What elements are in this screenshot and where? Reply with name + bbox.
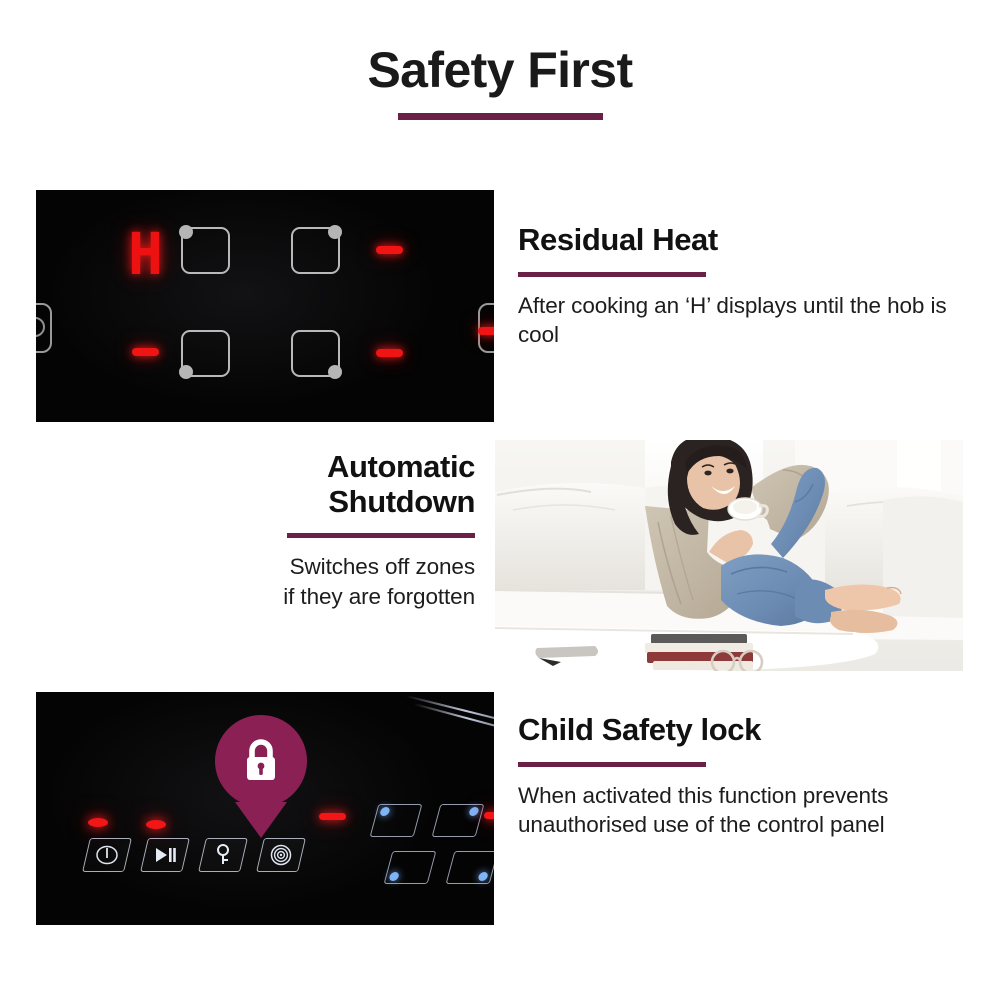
woman-relaxing-illustration <box>495 440 963 671</box>
automatic-shutdown-media <box>495 440 963 671</box>
hob-dash-bottom-left <box>132 348 159 356</box>
residual-heat-heading: Residual Heat <box>518 223 948 258</box>
hob-edge-dash-right <box>478 327 494 335</box>
hob-dash-bottom-right <box>376 349 403 357</box>
automatic-shutdown-body-line1: Switches off zones <box>160 552 475 582</box>
hob-edge-key-left <box>36 303 52 353</box>
zone-key-bottom-left[interactable] <box>384 851 437 884</box>
child-lock-badge <box>215 715 307 807</box>
hob-zone-indicator-3 <box>181 330 230 377</box>
automatic-shutdown-rule <box>287 533 475 538</box>
hob-zone-indicator-1 <box>181 227 230 274</box>
hob-dash-top-right <box>376 246 403 254</box>
zone-led-bar-far-right <box>484 812 494 819</box>
zone-key-top-left[interactable] <box>370 804 423 837</box>
zone-key-top-right[interactable] <box>432 804 485 837</box>
residual-heat-body: After cooking an ‘H’ displays until the … <box>518 291 948 350</box>
hob-edge-key-right <box>478 303 494 353</box>
zone-led-2 <box>146 820 166 829</box>
child-safety-lock-copy: Child Safety lock When activated this fu… <box>518 713 948 840</box>
automatic-shutdown-copy: Automatic Shutdown Switches off zones if… <box>160 450 475 612</box>
power-icon <box>95 843 119 867</box>
residual-heat-rule <box>518 272 706 277</box>
child-safety-lock-heading: Child Safety lock <box>518 713 948 748</box>
child-lock-key[interactable] <box>198 838 248 872</box>
child-safety-lock-body: When activated this function prevents un… <box>518 781 948 840</box>
pause-play-key[interactable] <box>140 838 190 872</box>
hob-zone-indicator-2 <box>291 227 340 274</box>
glass-reflection-streak-1 <box>406 695 494 724</box>
sofa-scene <box>495 440 963 671</box>
hob-zone-dot-4 <box>328 365 342 379</box>
timer-key[interactable] <box>256 838 306 872</box>
zone-led-bar <box>319 813 346 820</box>
child-lock-badge-pointer <box>235 802 287 838</box>
automatic-shutdown-body-line2: if they are forgotten <box>160 582 475 612</box>
zone-led-1 <box>88 818 108 827</box>
hob-zone-dot-3 <box>179 365 193 379</box>
power-key[interactable] <box>82 838 132 872</box>
hob-zone-indicator-4 <box>291 330 340 377</box>
hob-edge-key-left-glyph <box>36 317 45 337</box>
automatic-shutdown-heading-line1: Automatic <box>160 450 475 485</box>
residual-heat-letter: H <box>128 225 160 283</box>
child-safety-lock-media <box>36 692 494 925</box>
timer-spiral-icon <box>269 843 293 867</box>
child-safety-lock-rule <box>518 762 706 767</box>
padlock-icon <box>239 737 283 785</box>
zone-key-bottom-right[interactable] <box>446 851 494 884</box>
section-child-safety-lock: Child Safety lock When activated this fu… <box>0 0 458 233</box>
key-lock-icon <box>213 843 233 867</box>
residual-heat-copy: Residual Heat After cooking an ‘H’ displ… <box>518 223 948 350</box>
automatic-shutdown-heading-line2: Shutdown <box>160 485 475 520</box>
pause-play-icon <box>153 845 177 865</box>
